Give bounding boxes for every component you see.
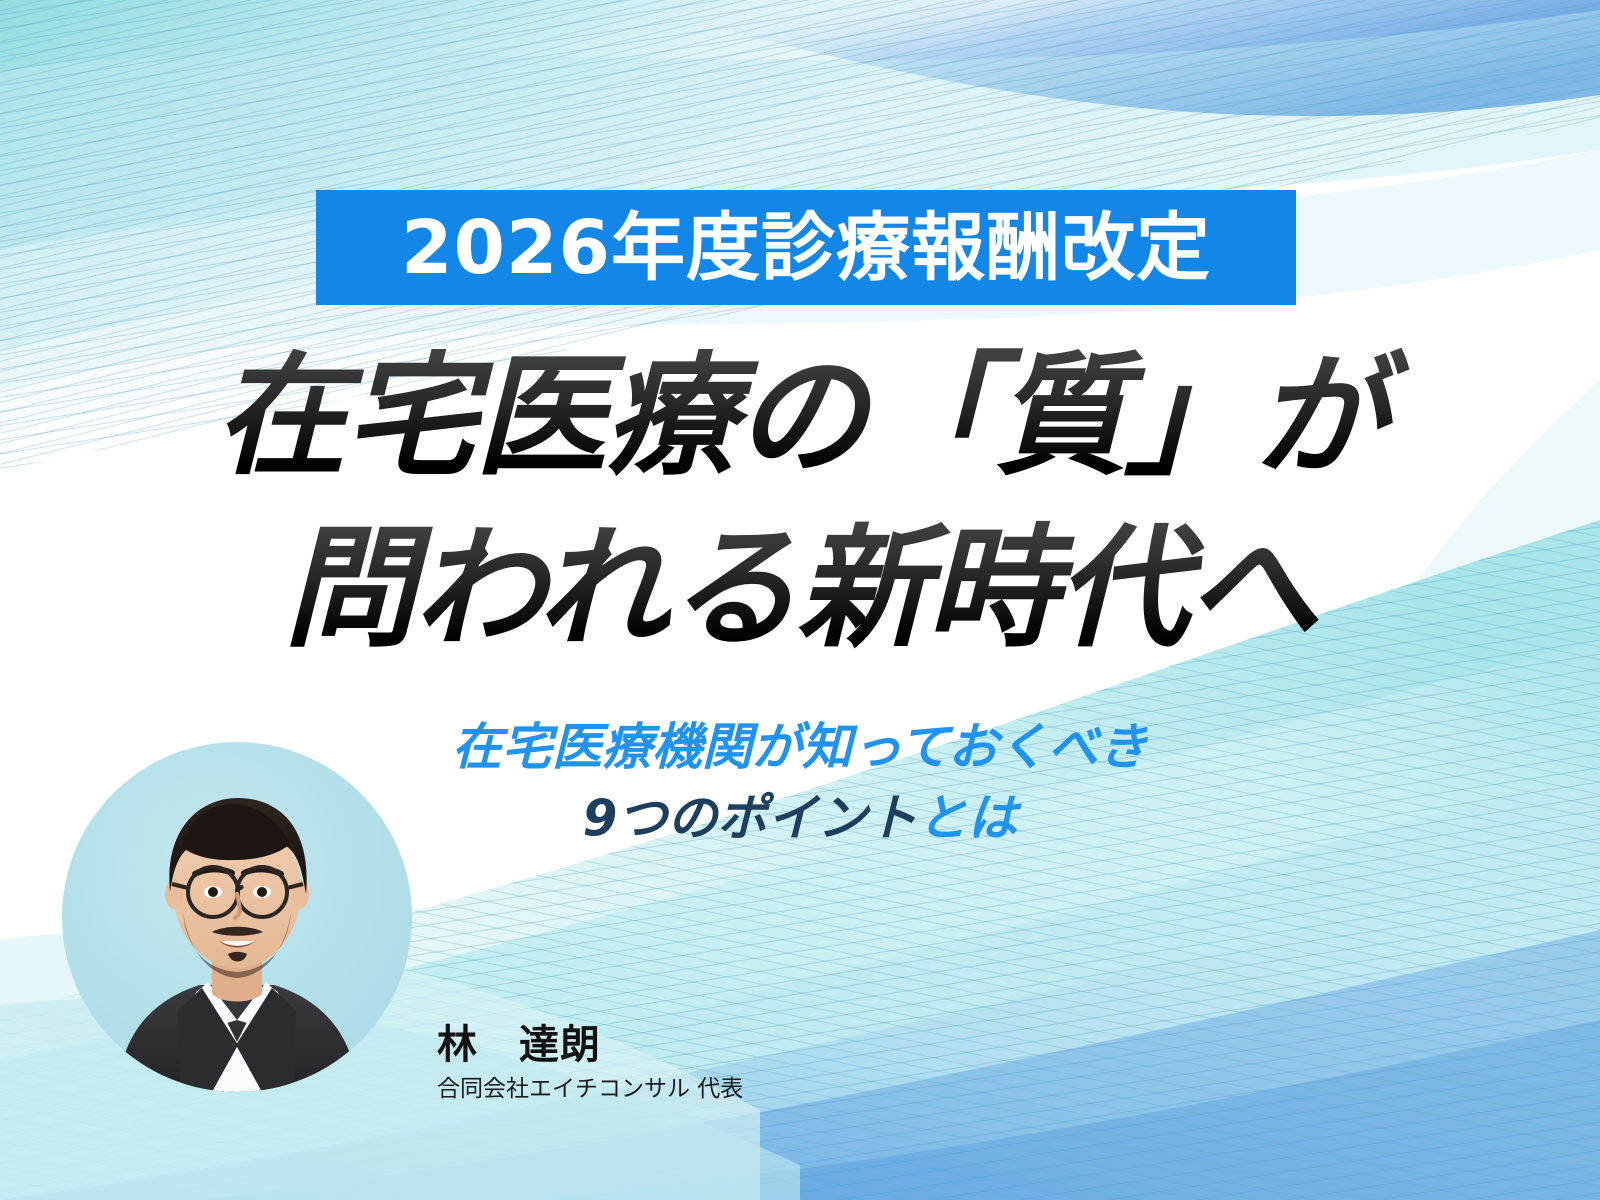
- subtitle-highlight: 9つのポイント: [583, 789, 918, 847]
- badge-label: 2026年度診療報酬改定: [401, 211, 1211, 285]
- headline-line-2: 問われる新時代へ: [0, 504, 1600, 676]
- slide-canvas: 2026年度診療報酬改定 在宅医療の「質」が 問われる新時代へ 在宅医療機関が知…: [0, 0, 1600, 1200]
- portrait-photo: [62, 742, 412, 1092]
- headline-badge: 2026年度診療報酬改定: [316, 190, 1296, 305]
- avatar-circle-background: [62, 742, 412, 1092]
- page-title: 在宅医療の「質」が 問われる新時代へ: [0, 332, 1600, 675]
- speaker-name: 林 達朗: [437, 1022, 743, 1068]
- avatar: [62, 742, 412, 1092]
- subtitle-tail: とは: [917, 789, 1017, 847]
- speaker-info: 林 達朗 合同会社エイチコンサル 代表: [437, 1022, 743, 1104]
- speaker-affiliation: 合同会社エイチコンサル 代表: [437, 1076, 743, 1104]
- headline-line-1: 在宅医療の「質」が: [0, 332, 1600, 504]
